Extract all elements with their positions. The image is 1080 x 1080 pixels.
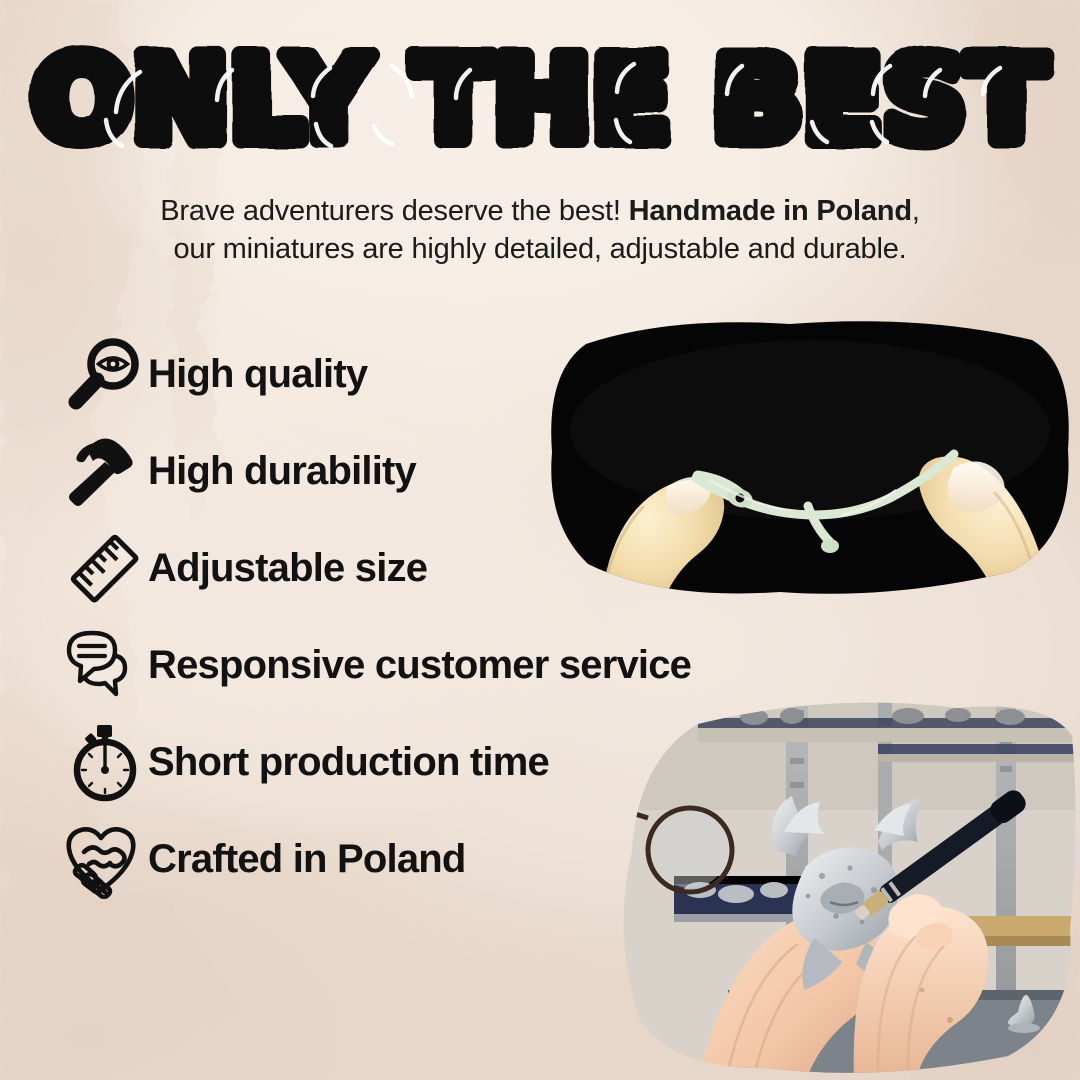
- speech-bubbles-icon: [62, 626, 148, 706]
- headline: ONLY THE BEST: [0, 36, 1080, 168]
- subtitle-bold-handmade: Handmade in Poland: [629, 195, 912, 227]
- headline-glyph-text: ONLY THE BEST: [32, 36, 1047, 168]
- photo-workshop-painting: [578, 690, 1080, 1080]
- ruler-icon: [62, 529, 148, 609]
- stopwatch-icon: [62, 723, 148, 803]
- handshake-heart-icon: [62, 820, 148, 900]
- promo-graphic-canvas: ONLY THE BEST: [0, 0, 1080, 1080]
- subtitle-text-b: ,: [912, 195, 920, 227]
- subtitle: Brave adventurers deserve the best! Hand…: [60, 192, 1020, 268]
- subtitle-line-1: Brave adventurers deserve the best! Hand…: [160, 195, 919, 227]
- hammer-icon: [62, 432, 148, 512]
- magnifier-eye-icon: [62, 335, 148, 415]
- feature-label: High quality: [148, 352, 367, 397]
- photo-flexible-miniature: [540, 310, 1080, 620]
- feature-label: High durability: [148, 449, 416, 494]
- feature-label: Short production time: [148, 740, 549, 785]
- feature-label: Responsive customer service: [148, 643, 691, 688]
- feature-label: Adjustable size: [148, 546, 427, 591]
- feature-label: Crafted in Poland: [148, 837, 466, 882]
- headline-text: ONLY THE BEST: [0, 36, 1080, 168]
- subtitle-text-a: Brave adventurers deserve the best!: [160, 195, 628, 227]
- subtitle-line-2: our miniatures are highly detailed, adju…: [173, 233, 906, 265]
